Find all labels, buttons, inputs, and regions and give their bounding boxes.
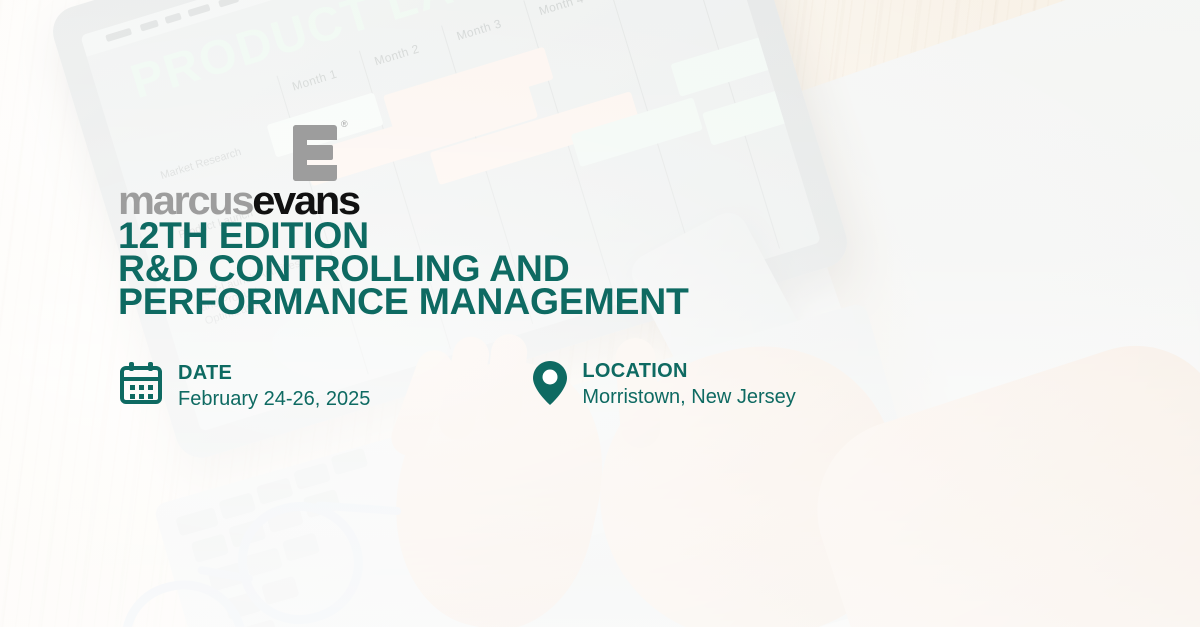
date-block: DATE February 24-26, 2025 [118, 360, 370, 411]
registered-trademark-symbol: ® [341, 119, 348, 129]
calendar-icon [118, 360, 164, 411]
location-label: LOCATION [582, 360, 795, 382]
banner-content: ® marcusevans 12TH EDITION R&D CONTROLLI… [0, 0, 1200, 627]
location-block: LOCATION Morristown, New Jersey [532, 360, 795, 411]
event-details: DATE February 24-26, 2025 LOCATION Morri… [118, 360, 796, 411]
event-banner: PRODUCT LAUNCH ROADMAP Month 1 Month 2 M… [0, 0, 1200, 627]
marcus-evans-e-mark-icon: ® [293, 125, 337, 181]
date-label: DATE [178, 362, 370, 384]
date-value: February 24-26, 2025 [178, 387, 370, 411]
event-title: 12TH EDITION R&D CONTROLLING AND PERFORM… [118, 219, 683, 318]
map-pin-icon [532, 360, 568, 411]
location-value: Morristown, New Jersey [582, 385, 795, 409]
title-line-topic-2: PERFORMANCE MANAGEMENT [118, 285, 689, 318]
